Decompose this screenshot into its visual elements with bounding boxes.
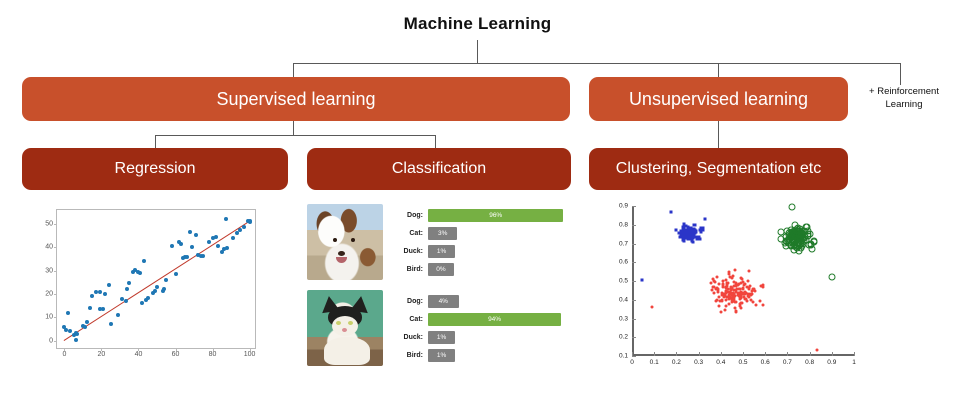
probability-bar-track: 3%: [428, 227, 457, 240]
clustering-data-point: [789, 240, 796, 247]
regression-data-point: [224, 217, 228, 221]
node-regression[interactable]: Regression: [22, 148, 288, 190]
regression-y-tickmark: [54, 317, 57, 318]
regression-y-tickmark: [54, 247, 57, 248]
clustering-data-point: [697, 236, 700, 239]
probability-bar-label: Duck:: [393, 334, 423, 341]
clustering-y-tickmark: [632, 337, 636, 338]
probability-bar-label: Cat:: [393, 230, 423, 237]
probability-bar-row: Cat:3%: [393, 226, 563, 241]
clustering-y-tickmark: [632, 262, 636, 263]
probability-bar-label: Bird:: [393, 266, 423, 273]
probability-bar-fill: 96%: [428, 209, 563, 222]
regression-x-tickmark: [250, 348, 251, 351]
regression-y-tickmark: [54, 294, 57, 295]
clustering-data-point: [727, 303, 730, 306]
clustering-data-point: [723, 295, 726, 298]
clustering-data-point: [695, 231, 698, 234]
regression-data-point: [231, 236, 235, 240]
regression-data-point: [216, 244, 220, 248]
clustering-data-point: [682, 222, 685, 225]
cat-photo: [307, 290, 383, 366]
regression-y-tickmark: [54, 224, 57, 225]
clustering-data-point: [724, 305, 727, 308]
clustering-y-tick: 0.2: [619, 334, 628, 341]
clustering-data-point: [722, 283, 725, 286]
clustering-data-point: [717, 304, 720, 307]
regression-y-tick: 30: [45, 267, 53, 274]
clustering-data-point: [754, 304, 757, 307]
regression-data-point: [214, 235, 218, 239]
regression-data-point: [155, 285, 159, 289]
clustering-x-tickmark: [854, 352, 855, 356]
node-regression-label: Regression: [115, 160, 196, 178]
clustering-data-point: [746, 279, 749, 282]
regression-data-point: [164, 278, 168, 282]
regression-data-point: [194, 233, 198, 237]
node-clustering-label: Clustering, Segmentation etc: [616, 160, 821, 178]
regression-data-point: [109, 322, 113, 326]
regression-x-tickmark: [138, 348, 139, 351]
regression-y-tickmark: [54, 341, 57, 342]
clustering-data-point: [712, 285, 715, 288]
clustering-data-point: [742, 292, 745, 295]
clustering-data-point: [715, 298, 718, 301]
connector-level2-bus: [155, 135, 436, 136]
clustering-data-point: [788, 232, 795, 239]
clustering-x-tickmark: [810, 352, 811, 356]
regression-data-point: [85, 320, 89, 324]
probability-bar-track: 1%: [428, 349, 455, 362]
clustering-outlier-point: [640, 279, 643, 282]
clustering-data-point: [685, 230, 688, 233]
regression-data-point: [124, 299, 128, 303]
clustering-data-point: [740, 278, 743, 281]
node-supervised-learning-label: Supervised learning: [216, 89, 375, 110]
regression-y-tick: 0: [49, 337, 53, 344]
probability-bar-track: 1%: [428, 245, 455, 258]
clustering-data-point: [748, 270, 751, 273]
clustering-data-point: [687, 234, 690, 237]
probability-bar-label: Dog:: [393, 298, 423, 305]
clustering-x-tick: 0.6: [761, 359, 770, 366]
clustering-x-tick: 0.1: [650, 359, 659, 366]
regression-x-tickmark: [64, 348, 65, 351]
regression-data-point: [75, 332, 79, 336]
clustering-x-tickmark: [832, 352, 833, 356]
clustering-data-point: [727, 296, 730, 299]
cat-probability-bars: Dog:4%Cat:94%Duck:1%Bird:1%: [393, 290, 561, 366]
clustering-y-tickmark: [632, 300, 636, 301]
node-unsupervised-learning[interactable]: Unsupervised learning: [589, 77, 848, 121]
probability-bar-label: Bird:: [393, 352, 423, 359]
clustering-data-point: [734, 282, 737, 285]
regression-x-tick: 0: [62, 351, 66, 358]
regression-data-point: [190, 245, 194, 249]
clustering-data-point: [728, 272, 731, 275]
clustering-data-point: [746, 294, 749, 297]
clustering-x-tick: 0.3: [694, 359, 703, 366]
page-title: Machine Learning: [0, 14, 955, 34]
connector-drop-reinforcement: [900, 63, 901, 85]
regression-data-point: [74, 338, 78, 342]
regression-x-tick: 40: [135, 351, 143, 358]
clustering-x-tick: 0: [630, 359, 634, 366]
probability-bar-label: Cat:: [393, 316, 423, 323]
clustering-data-point: [744, 297, 747, 300]
regression-y-tick: 20: [45, 291, 53, 298]
probability-bar-row: Duck:1%: [393, 244, 563, 259]
dog-probability-bars: Dog:96%Cat:3%Duck:1%Bird:0%: [393, 204, 563, 280]
clustering-y-tick: 0.6: [619, 259, 628, 266]
clustering-data-point: [713, 280, 716, 283]
clustering-data-point: [737, 295, 740, 298]
reinforcement-learning-note: + Reinforcement Learning: [856, 86, 952, 112]
regression-x-tick: 60: [172, 351, 180, 358]
connector-drop-unsupervised: [718, 63, 719, 77]
clustering-data-point: [739, 301, 742, 304]
clustering-data-point: [700, 230, 703, 233]
clustering-data-point: [735, 309, 738, 312]
connector-drop-classification: [435, 135, 436, 148]
clustering-data-point: [754, 289, 757, 292]
regression-x-tick: 100: [244, 351, 256, 358]
clustering-data-point: [735, 300, 738, 303]
clustering-y-tick: 0.5: [619, 278, 628, 285]
clustering-x-tickmark: [676, 352, 677, 356]
clustering-data-point: [731, 292, 734, 295]
regression-data-point: [116, 313, 120, 317]
regression-data-point: [146, 296, 150, 300]
regression-x-tick: 20: [98, 351, 106, 358]
regression-data-point: [235, 231, 239, 235]
clustering-data-point: [691, 234, 694, 237]
node-supervised-learning[interactable]: Supervised learning: [22, 77, 570, 121]
regression-data-point: [242, 225, 246, 229]
connector-drop-supervised: [293, 63, 294, 77]
clustering-x-tick: 1: [852, 359, 856, 366]
clustering-data-point: [679, 230, 682, 233]
clustering-data-point: [693, 228, 696, 231]
probability-bar-track: 1%: [428, 331, 455, 344]
clustering-y-tick: 0.4: [619, 296, 628, 303]
regression-data-point: [125, 287, 129, 291]
probability-bar-track: 96%: [428, 209, 563, 222]
connector-drop-clustering: [718, 121, 719, 148]
regression-data-point: [174, 272, 178, 276]
regression-data-point: [201, 254, 205, 258]
regression-x-tickmark: [213, 348, 214, 351]
clustering-y-tickmark: [632, 356, 636, 357]
clustering-data-point: [674, 228, 677, 231]
regression-chart: 01020304050020406080100: [22, 203, 267, 379]
regression-y-tick: 40: [45, 244, 53, 251]
clustering-data-point: [761, 303, 764, 306]
clustering-data-point: [709, 282, 712, 285]
clustering-y-tick: 0.3: [619, 315, 628, 322]
probability-bar-fill: 94%: [428, 313, 561, 326]
probability-bar-fill: 1%: [428, 331, 455, 344]
clustering-y-tickmark: [632, 225, 636, 226]
clustering-data-point: [751, 288, 754, 291]
clustering-x-tickmark: [721, 352, 722, 356]
clustering-y-tick: 0.9: [619, 203, 628, 210]
clustering-data-point: [679, 233, 682, 236]
clustering-outlier-point: [669, 210, 672, 213]
probability-bar-fill: 4%: [428, 295, 459, 308]
regression-data-point: [88, 306, 92, 310]
dog-photo: [307, 204, 383, 280]
connector-title-stem: [477, 40, 478, 63]
regression-data-point: [170, 244, 174, 248]
clustering-x-tickmark: [654, 352, 655, 356]
regression-data-point: [127, 281, 131, 285]
clustering-data-point: [718, 283, 721, 286]
regression-data-point: [101, 307, 105, 311]
probability-bar-track: 4%: [428, 295, 459, 308]
clustering-chart: 0.10.20.30.40.50.60.70.80.900.10.20.30.4…: [604, 198, 869, 388]
probability-bar-row: Duck:1%: [393, 330, 561, 345]
regression-data-point: [179, 242, 183, 246]
regression-trendline: [64, 221, 250, 341]
regression-data-point: [66, 311, 70, 315]
regression-y-tick: 50: [45, 221, 53, 228]
probability-bar-fill: 1%: [428, 245, 455, 258]
probability-bar-track: 0%: [428, 263, 454, 276]
clustering-x-tick: 0.7: [783, 359, 792, 366]
clustering-outlier-point: [828, 274, 835, 281]
regression-plot-area: 01020304050020406080100: [56, 209, 256, 349]
regression-data-point: [107, 283, 111, 287]
regression-data-point: [140, 301, 144, 305]
probability-bar-fill: 3%: [428, 227, 457, 240]
clustering-y-tickmark: [632, 281, 636, 282]
regression-data-point: [83, 325, 87, 329]
regression-data-point: [238, 228, 242, 232]
clustering-y-tick: 0.8: [619, 221, 628, 228]
clustering-y-tickmark: [632, 244, 636, 245]
clustering-data-point: [797, 234, 804, 241]
clustering-data-point: [713, 291, 716, 294]
probability-bar-row: Dog:4%: [393, 294, 561, 309]
clustering-x-tick: 0.5: [738, 359, 747, 366]
regression-data-point: [68, 329, 72, 333]
clustering-data-point: [720, 311, 723, 314]
clustering-data-point: [735, 288, 738, 291]
clustering-x-tickmark: [699, 352, 700, 356]
regression-data-point: [162, 287, 166, 291]
classification-row-cat: Dog:4%Cat:94%Duck:1%Bird:1%: [307, 290, 561, 366]
clustering-data-point: [739, 306, 742, 309]
regression-data-point: [90, 294, 94, 298]
regression-data-point: [248, 219, 252, 223]
node-classification[interactable]: Classification: [307, 148, 571, 190]
clustering-data-point: [716, 276, 719, 279]
clustering-outlier-point: [788, 203, 795, 210]
regression-data-point: [225, 246, 229, 250]
clustering-data-point: [692, 240, 695, 243]
regression-data-point: [138, 271, 142, 275]
clustering-x-tick: 0.9: [827, 359, 836, 366]
clustering-x-tick: 0.8: [805, 359, 814, 366]
probability-bar-row: Bird:1%: [393, 348, 561, 363]
regression-data-point: [185, 255, 189, 259]
clustering-data-point: [748, 284, 751, 287]
clustering-y-tick: 0.7: [619, 240, 628, 247]
clustering-outlier-point: [816, 349, 819, 352]
probability-bar-track: 94%: [428, 313, 561, 326]
diagram-canvas: Machine Learning Supervised learning Uns…: [0, 0, 955, 417]
regression-data-point: [103, 292, 107, 296]
clustering-data-point: [690, 227, 693, 230]
clustering-data-point: [694, 223, 697, 226]
regression-data-point: [207, 240, 211, 244]
clustering-y-tickmark: [632, 319, 636, 320]
clustering-outlier-point: [704, 218, 707, 221]
probability-bar-row: Bird:0%: [393, 262, 563, 277]
classification-row-dog: Dog:96%Cat:3%Duck:1%Bird:0%: [307, 204, 563, 280]
regression-data-point: [153, 289, 157, 293]
clustering-data-point: [791, 222, 798, 229]
clustering-data-point: [702, 226, 705, 229]
node-classification-label: Classification: [392, 160, 486, 178]
regression-y-tickmark: [54, 271, 57, 272]
clustering-data-point: [721, 280, 724, 283]
clustering-outlier-point: [650, 305, 653, 308]
node-unsupervised-learning-label: Unsupervised learning: [629, 89, 808, 110]
clustering-data-point: [718, 299, 721, 302]
clustering-data-point: [761, 285, 764, 288]
regression-x-tickmark: [176, 348, 177, 351]
clustering-x-tickmark: [765, 352, 766, 356]
clustering-data-point: [741, 287, 744, 290]
clustering-x-tick: 0.4: [716, 359, 725, 366]
clustering-data-point: [730, 276, 733, 279]
clustering-x-tick: 0.2: [672, 359, 681, 366]
classification-examples: Dog:96%Cat:3%Duck:1%Bird:0% Dog:4%Cat:94…: [307, 200, 577, 385]
probability-bar-fill: 1%: [428, 349, 455, 362]
clustering-data-point: [725, 291, 728, 294]
clustering-plot-area: 0.10.20.30.40.50.60.70.80.900.10.20.30.4…: [632, 206, 854, 356]
connector-drop-regression: [155, 135, 156, 148]
clustering-x-tickmark: [787, 352, 788, 356]
clustering-data-point: [733, 307, 736, 310]
regression-x-tick: 80: [209, 351, 217, 358]
regression-data-point: [98, 290, 102, 294]
clustering-data-point: [759, 300, 762, 303]
regression-data-point: [142, 259, 146, 263]
clustering-y-tick: 0.1: [619, 353, 628, 360]
connector-level1-bus: [293, 63, 901, 64]
probability-bar-label: Duck:: [393, 248, 423, 255]
clustering-y-tickmark: [632, 206, 636, 207]
clustering-data-point: [724, 286, 727, 289]
clustering-data-point: [808, 246, 815, 253]
connector-supervised-stem: [293, 121, 294, 135]
clustering-data-point: [725, 282, 728, 285]
clustering-data-point: [716, 288, 719, 291]
probability-bar-fill: 0%: [428, 263, 454, 276]
clustering-data-point: [750, 293, 753, 296]
clustering-data-point: [742, 284, 745, 287]
regression-data-point: [188, 230, 192, 234]
clustering-data-point: [734, 269, 737, 272]
clustering-data-point: [730, 287, 733, 290]
regression-x-tickmark: [101, 348, 102, 351]
clustering-data-point: [689, 237, 692, 240]
probability-bar-label: Dog:: [393, 212, 423, 219]
clustering-data-point: [723, 309, 726, 312]
clustering-x-tickmark: [743, 352, 744, 356]
probability-bar-row: Dog:96%: [393, 208, 563, 223]
regression-y-tick: 10: [45, 314, 53, 321]
probability-bar-row: Cat:94%: [393, 312, 561, 327]
node-clustering[interactable]: Clustering, Segmentation etc: [589, 148, 848, 190]
clustering-x-tickmark: [632, 352, 633, 356]
